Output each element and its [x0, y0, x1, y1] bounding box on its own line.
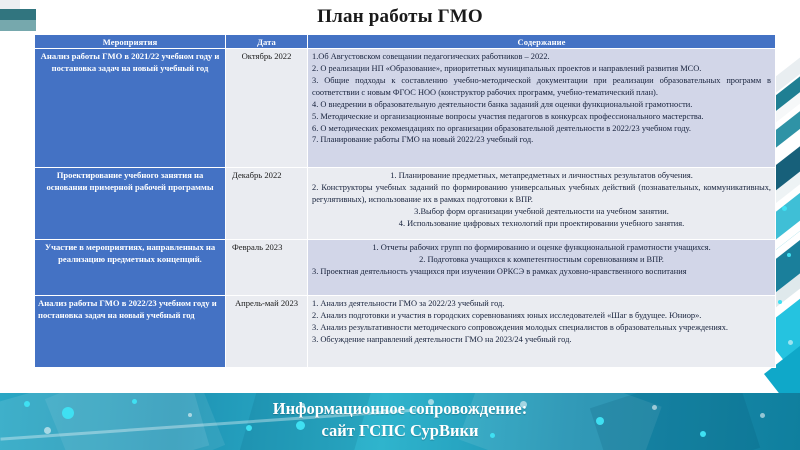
- cell-event: Анализ работы ГМО в 2022/23 учебном году…: [35, 296, 226, 368]
- content-line: 2. Анализ подготовки и участия в городск…: [312, 310, 771, 322]
- cell-date: Февраль 2023: [226, 240, 308, 296]
- content-line: 5. Методические и организационные вопрос…: [312, 111, 771, 123]
- content-line: 7. Планирование работы ГМО на новый 2022…: [312, 134, 771, 146]
- page-title: План работы ГМО: [0, 6, 800, 28]
- content-line: 2. Конструкторы учебных заданий по форми…: [312, 182, 771, 206]
- content-line: 1. Анализ деятельности ГМО за 2022/23 уч…: [312, 298, 771, 310]
- cell-content: 1. Планирование предметных, метапредметн…: [308, 168, 776, 240]
- content-line: 1. Планирование предметных, метапредметн…: [312, 170, 771, 182]
- footer-caption: Информационное сопровождение: сайт ГСПС …: [0, 398, 800, 443]
- content-line: 3. Обсуждение направлений деятельности Г…: [312, 334, 771, 346]
- content-line: 1.Об Августовском совещании педагогическ…: [312, 51, 771, 63]
- table-header-row: Мероприятия Дата Содержание: [35, 35, 776, 49]
- content-line: 3. Общие подходы к составлению учебно-ме…: [312, 75, 771, 99]
- footer-line-2: сайт ГСПС СурВики: [0, 420, 800, 442]
- content-line: 3. Проектная деятельность учащихся при и…: [312, 266, 771, 278]
- content-line: 2. О реализации НП «Образование», приори…: [312, 63, 771, 75]
- footer-line-1: Информационное сопровождение:: [0, 398, 800, 420]
- content-line: 4. Использование цифровых технологий при…: [312, 218, 771, 230]
- column-header-date: Дата: [226, 35, 308, 49]
- content-line: 6. О методических рекомендациях по орган…: [312, 123, 771, 135]
- column-header-content: Содержание: [308, 35, 776, 49]
- table-row: Проектирование учебного занятия на основ…: [35, 168, 776, 240]
- cell-event: Участие в мероприятиях, направленных на …: [35, 240, 226, 296]
- footer-banner: Информационное сопровождение: сайт ГСПС …: [0, 393, 800, 450]
- cell-content: 1. Анализ деятельности ГМО за 2022/23 уч…: [308, 296, 776, 368]
- content-line: 4. О внедрении в образовательную деятель…: [312, 99, 771, 111]
- cell-date: Октябрь 2022: [226, 49, 308, 168]
- table-row: Участие в мероприятиях, направленных на …: [35, 240, 776, 296]
- cell-event: Проектирование учебного занятия на основ…: [35, 168, 226, 240]
- plan-table-wrapper: Мероприятия Дата Содержание Анализ работ…: [34, 34, 775, 368]
- content-line: 3.Выбор форм организации учебной деятель…: [312, 206, 771, 218]
- content-line: 3. Анализ результативности методического…: [312, 322, 771, 334]
- cell-event: Анализ работы ГМО в 2021/22 учебном году…: [35, 49, 226, 168]
- cell-content: 1. Отчеты рабочих групп по формированию …: [308, 240, 776, 296]
- content-line: 1. Отчеты рабочих групп по формированию …: [312, 242, 771, 254]
- cell-content: 1.Об Августовском совещании педагогическ…: [308, 49, 776, 168]
- slide-canvas: План работы ГМО Мероприятия Дата Содержа…: [0, 0, 800, 450]
- cell-date: Апрель-май 2023: [226, 296, 308, 368]
- plan-table: Мероприятия Дата Содержание Анализ работ…: [34, 34, 776, 368]
- column-header-events: Мероприятия: [35, 35, 226, 49]
- table-row: Анализ работы ГМО в 2022/23 учебном году…: [35, 296, 776, 368]
- content-line: 2. Подготовка учащихся к компетентностны…: [312, 254, 771, 266]
- cell-date: Декабрь 2022: [226, 168, 308, 240]
- table-row: Анализ работы ГМО в 2021/22 учебном году…: [35, 49, 776, 168]
